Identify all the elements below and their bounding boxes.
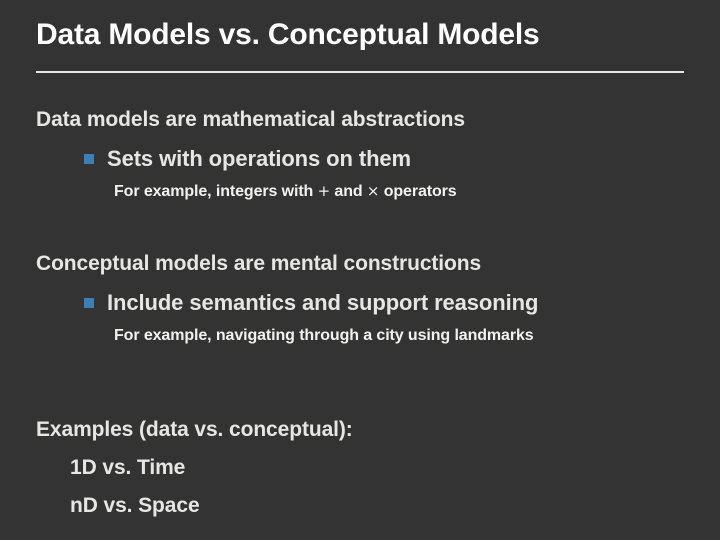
times-symbol: × xyxy=(367,182,379,200)
example-item: nD vs. Space xyxy=(70,494,200,518)
square-bullet-icon xyxy=(84,154,94,164)
bullet-item-label: Include semantics and support reasoning xyxy=(107,290,538,316)
section-heading: Data models are mathematical abstraction… xyxy=(36,108,465,132)
bullet-item: Include semantics and support reasoning xyxy=(84,290,538,316)
detail-middle: and xyxy=(330,183,367,200)
section-detail: For example, integers with + and × opera… xyxy=(114,182,614,201)
examples-heading: Examples (data vs. conceptual): xyxy=(36,418,353,442)
bullet-item-label: Sets with operations on them xyxy=(107,146,411,172)
slide: Data Models vs. Conceptual Models Data m… xyxy=(0,0,720,540)
page-title: Data Models vs. Conceptual Models xyxy=(36,16,686,54)
section-detail: For example, navigating through a city u… xyxy=(114,326,628,345)
detail-prefix: For example, integers with xyxy=(114,183,318,200)
section-heading: Conceptual models are mental constructio… xyxy=(36,252,481,276)
bullet-item: Sets with operations on them xyxy=(84,146,411,172)
title-divider xyxy=(36,71,684,73)
example-item: 1D vs. Time xyxy=(70,456,185,480)
detail-suffix: operators xyxy=(379,183,456,200)
square-bullet-icon xyxy=(84,298,94,308)
plus-symbol: + xyxy=(318,182,330,200)
